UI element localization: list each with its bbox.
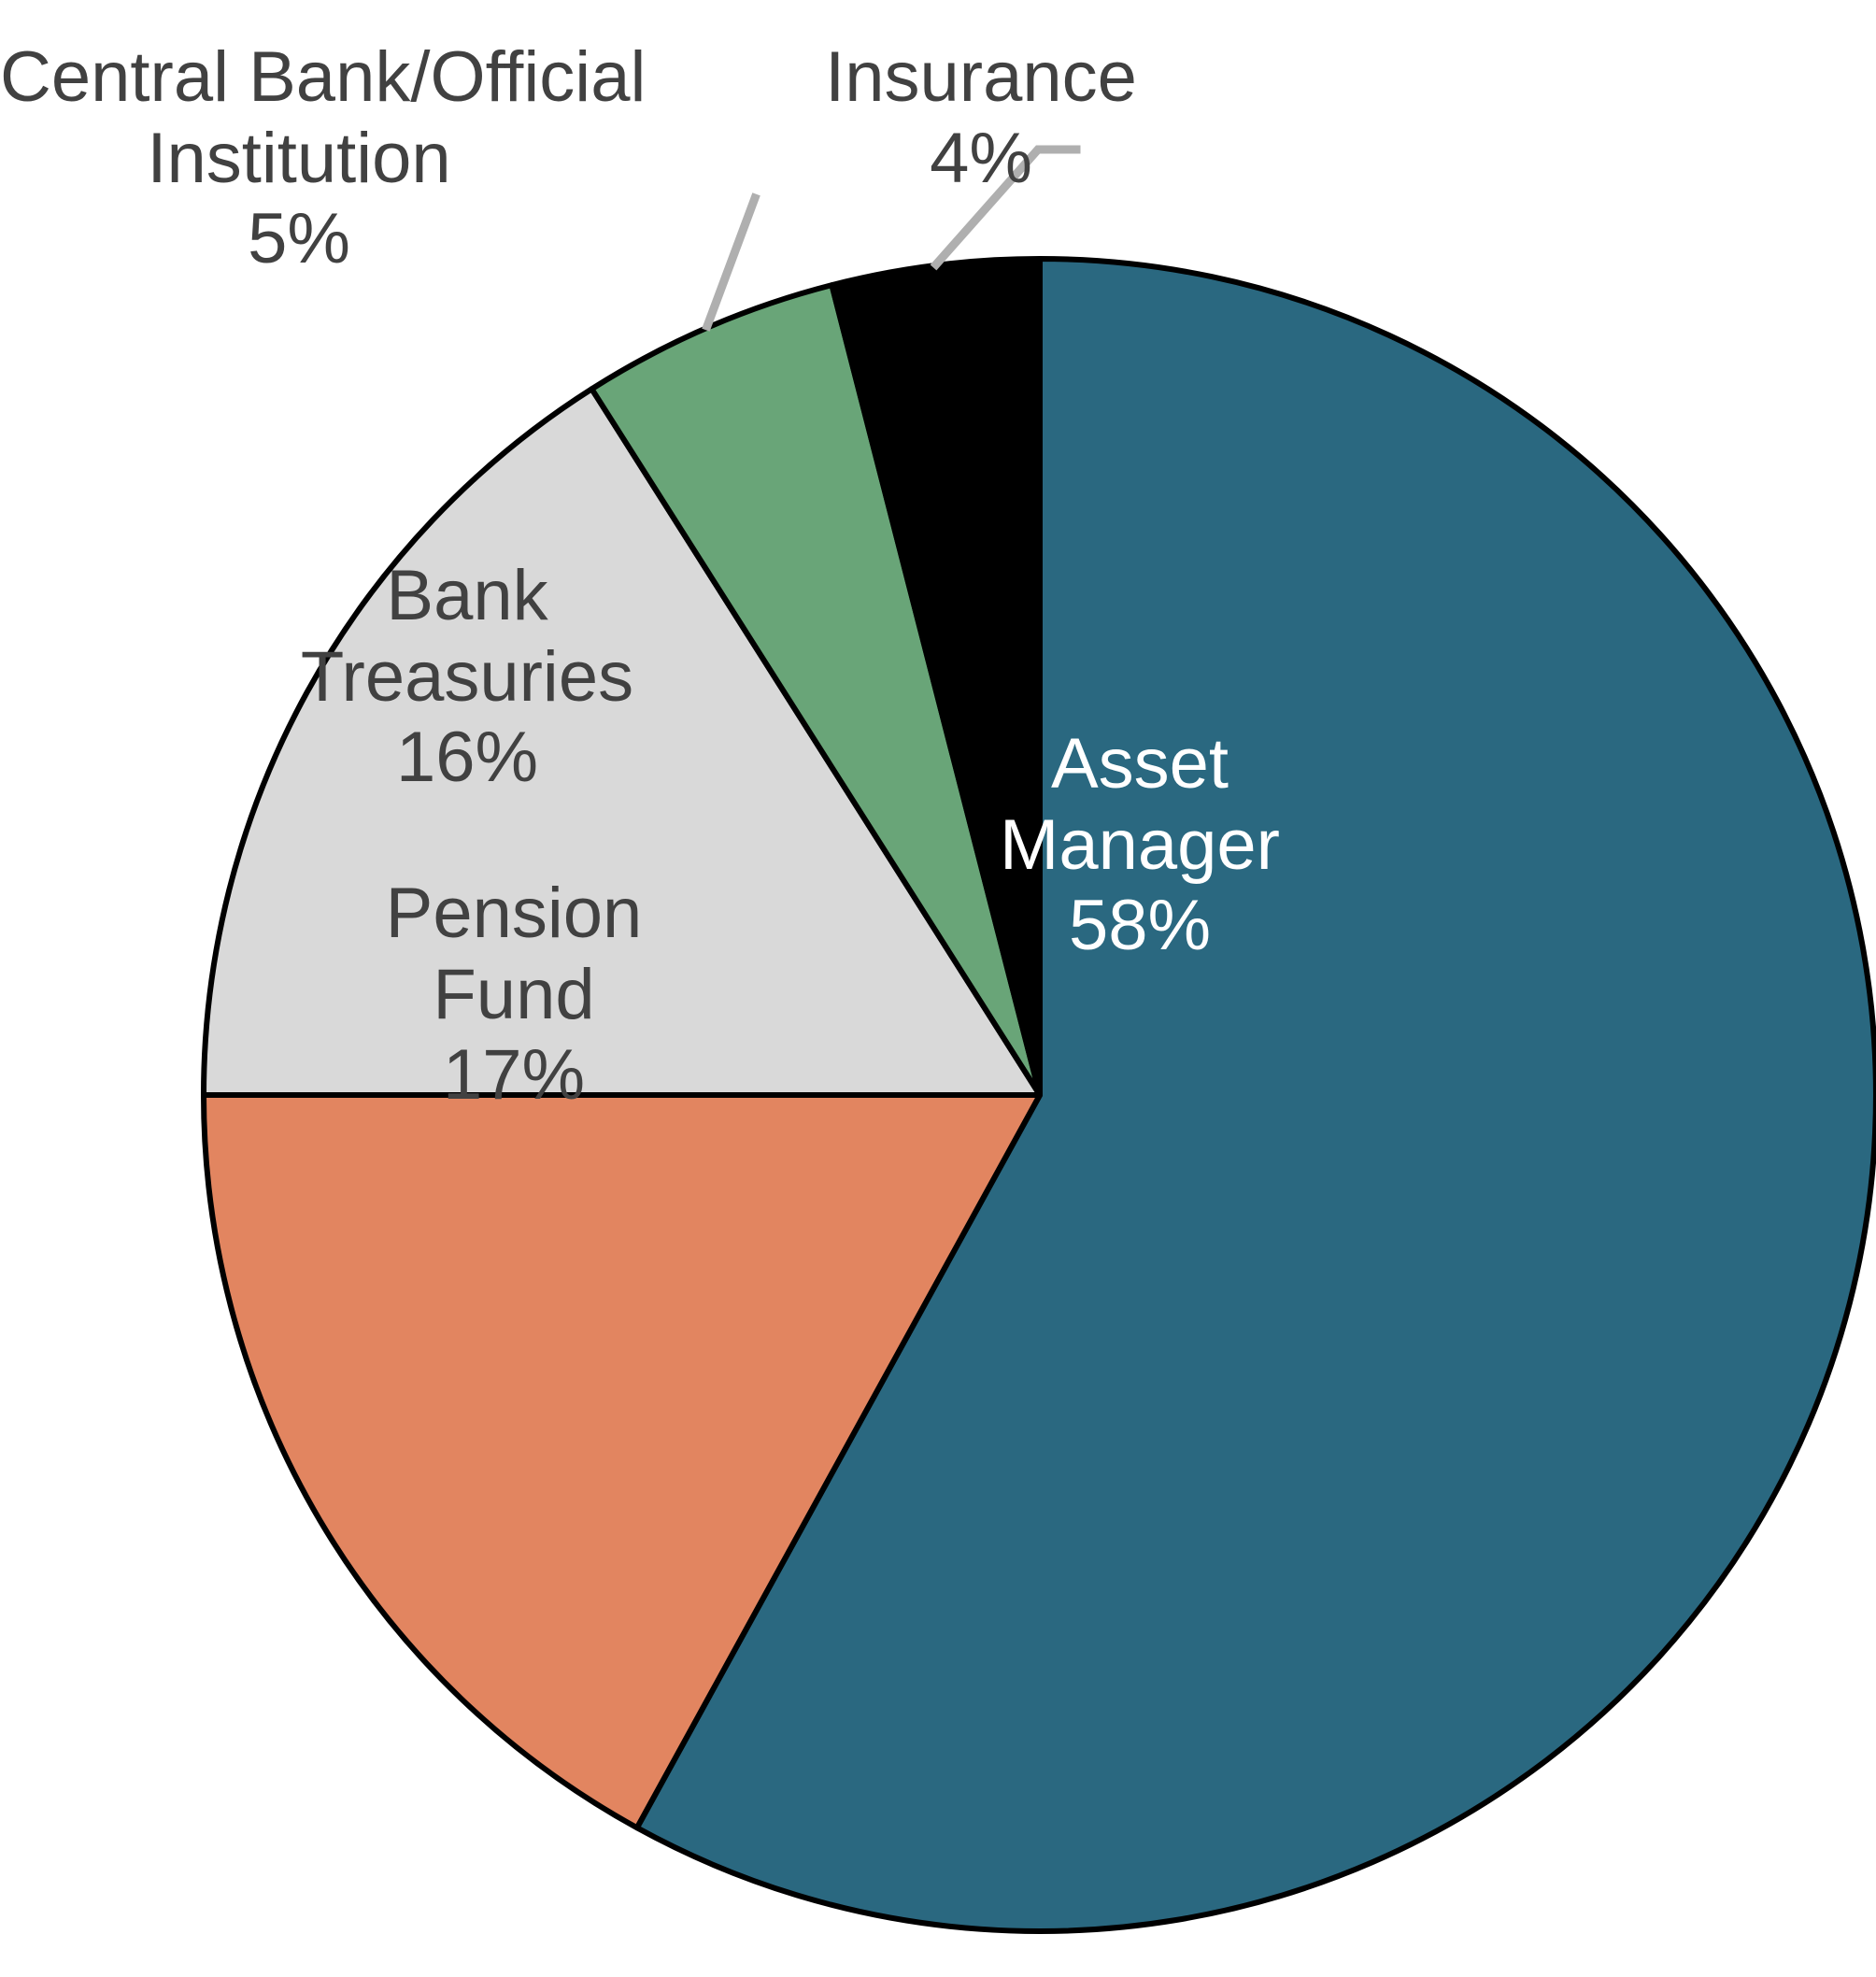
slice-label-insurance: Insurance 4% — [738, 37, 1224, 199]
slice-label-line1: Bank — [252, 556, 682, 637]
slice-label-line1: Pension — [299, 874, 729, 955]
slice-label-line2: Fund — [299, 955, 729, 1036]
slice-label-central-bank-official-institution: Central Bank/Official Institution 5% — [0, 37, 598, 280]
slice-label-line1: Asset — [934, 724, 1345, 805]
slice-value-text: 16% — [252, 718, 682, 799]
slice-value-text: 5% — [0, 199, 598, 280]
slice-value-text: 17% — [299, 1035, 729, 1117]
slice-label-line2: Manager — [934, 805, 1345, 887]
slice-label-line2: Institution — [0, 119, 598, 200]
slice-value-text: 58% — [934, 886, 1345, 967]
slice-label-line1: Insurance — [738, 37, 1224, 119]
slice-value-text: 4% — [738, 119, 1224, 200]
pie-chart: Central Bank/Official Institution 5% Ins… — [0, 0, 1876, 1977]
leader-line-central-bank-official-institution — [707, 198, 755, 326]
slice-label-pension-fund: Pension Fund 17% — [299, 874, 729, 1117]
slice-label-line2: Treasuries — [252, 637, 682, 718]
slice-label-asset-manager: Asset Manager 58% — [934, 724, 1345, 967]
pie-chart-canvas — [0, 0, 1876, 1977]
slice-label-line1: Central Bank/Official — [0, 37, 598, 119]
slice-label-bank-treasuries: Bank Treasuries 16% — [252, 556, 682, 799]
